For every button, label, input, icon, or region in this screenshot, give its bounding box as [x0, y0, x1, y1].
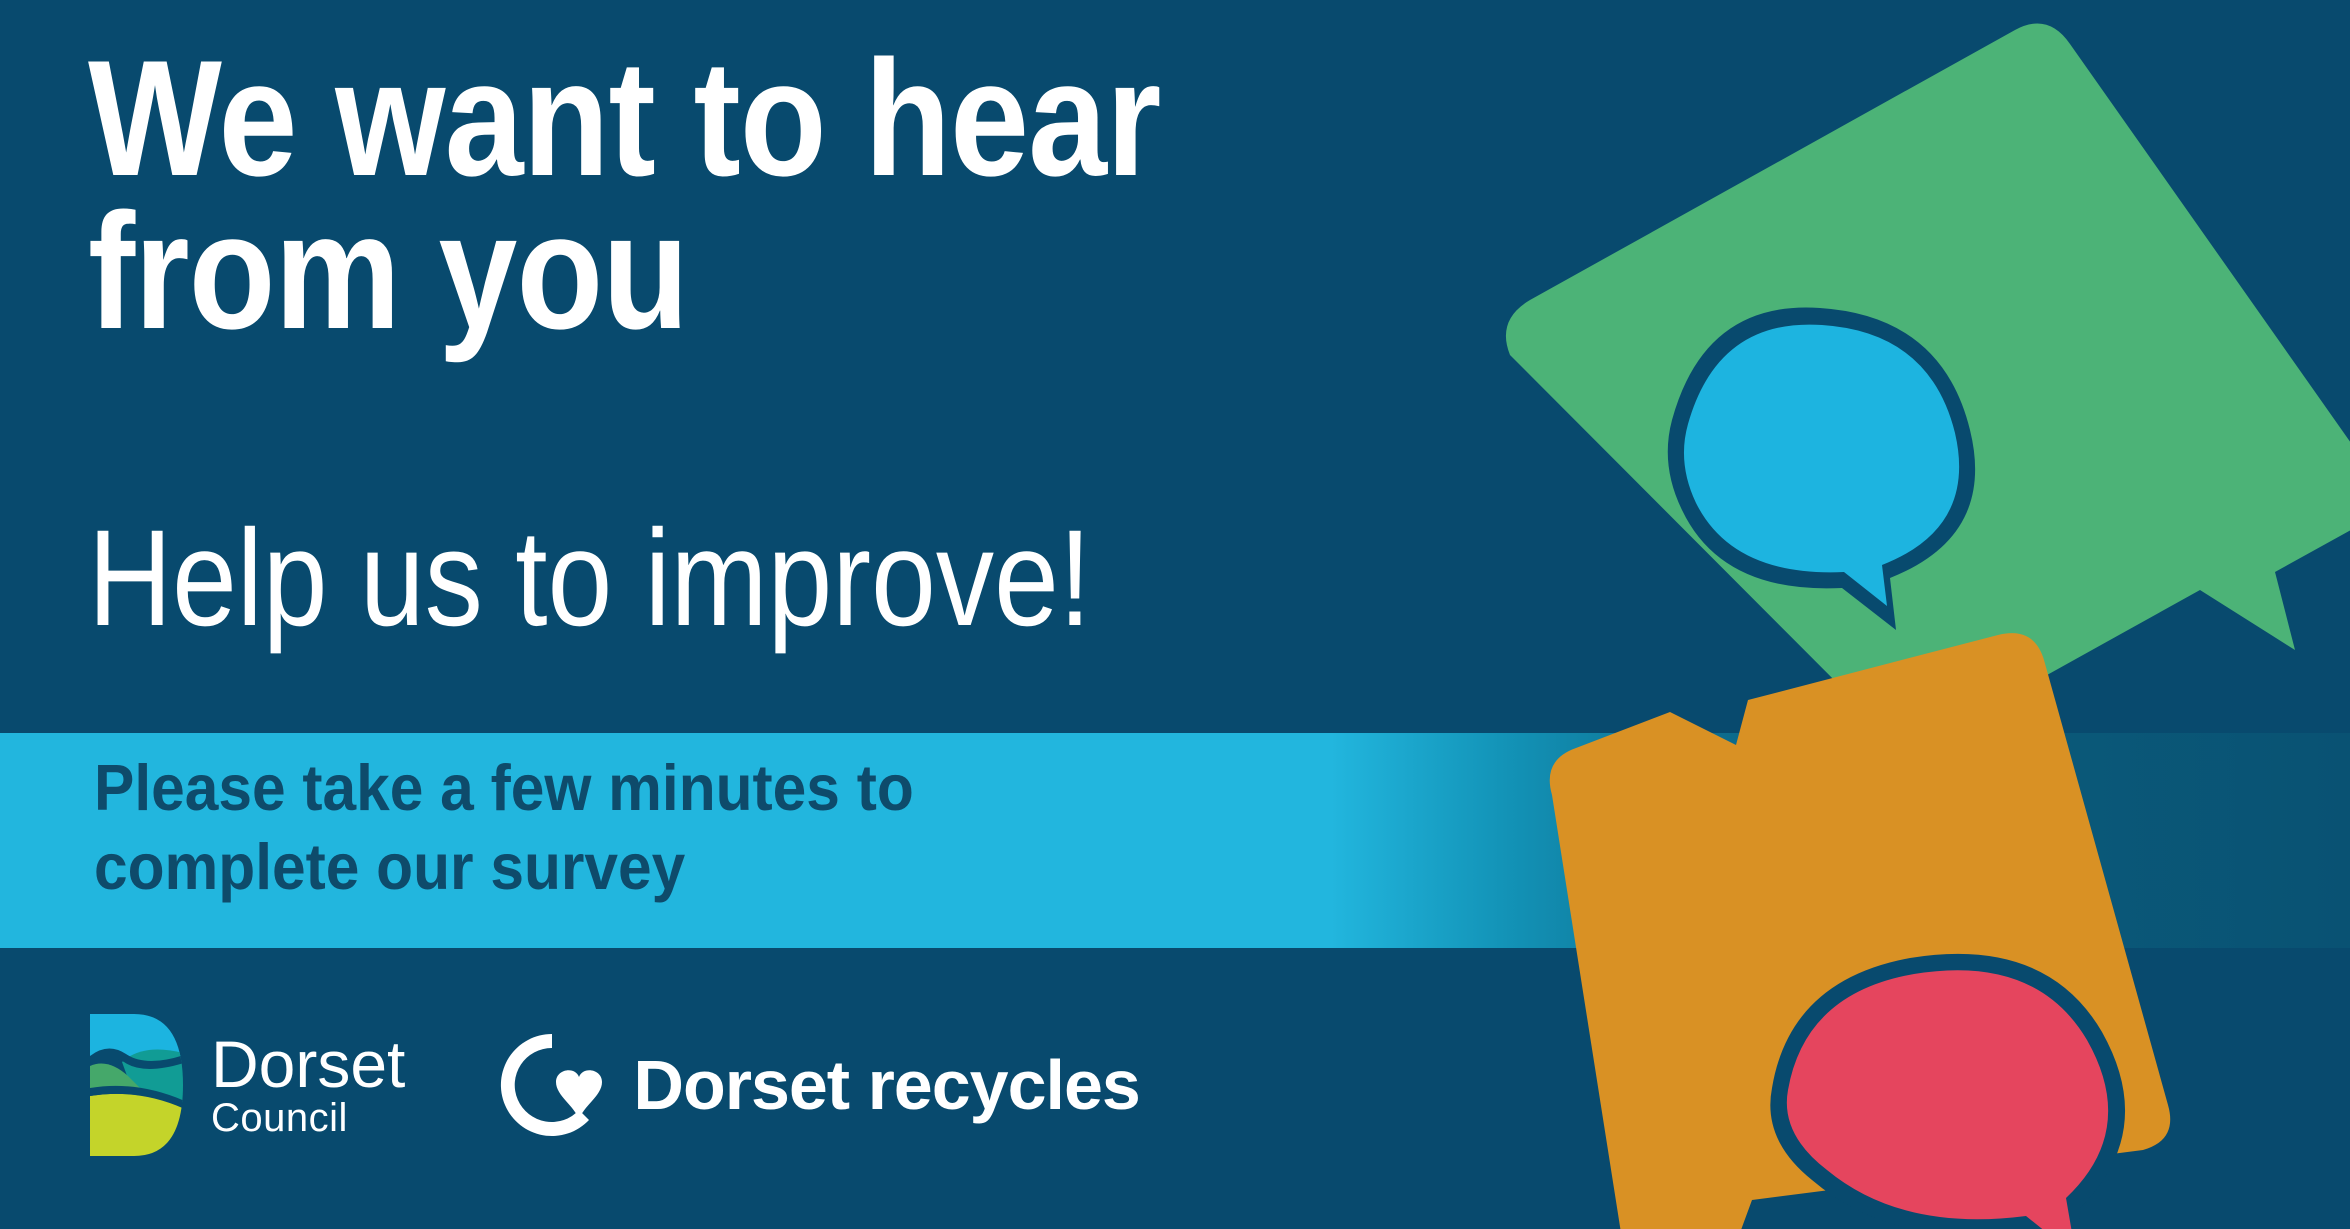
council-line-2: Council [211, 1099, 405, 1138]
dorset-council-logo: Dorset Council [82, 1010, 405, 1160]
speech-bubble-pink [1770, 954, 2125, 1229]
dorset-council-landscape-d-mark-icon [82, 1010, 187, 1160]
council-line-1: Dorset [211, 1032, 405, 1097]
page-title: We want to hear from you [88, 42, 1292, 349]
dorset-recycles-logo: Dorset recycles [493, 1026, 1139, 1144]
band-caption: Please take a few minutes to complete ou… [94, 748, 1257, 907]
logo-row: Dorset Council Dorset recycles [82, 1005, 1140, 1165]
survey-banner: We want to hear from you Help us to impr… [0, 0, 2350, 1229]
speech-bubble-illustration [1490, 0, 2350, 1229]
recycle-arrow-heart-icon [493, 1026, 611, 1144]
page-subtitle: Help us to improve! [88, 510, 1363, 647]
dorset-recycles-wordmark: Dorset recycles [633, 1045, 1139, 1125]
dorset-council-wordmark: Dorset Council [211, 1032, 405, 1139]
